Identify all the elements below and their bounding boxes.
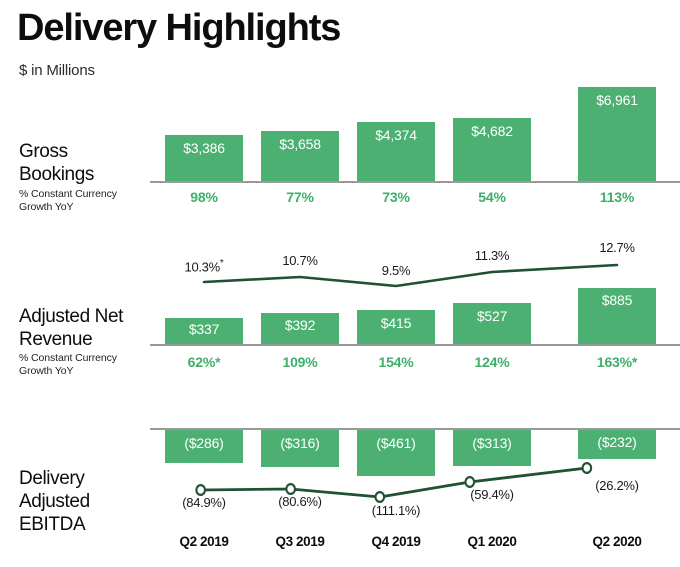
row-sublabel-gross-bookings-line1: % Constant Currency [19,188,117,201]
bar-ebitda-q4-2019[interactable]: ($461) [357,430,435,476]
x-tick-q1-2020: Q1 2020 [453,534,531,549]
ebitda-margin-label-q3-2019: (80.6%) [260,494,340,509]
bar-ebitda-q3-2019[interactable]: ($316) [261,430,339,467]
delivery-highlights-slide: Delivery Highlights $ in Millions Gross … [0,0,680,567]
row-label-gross-bookings: Gross Bookings [19,140,94,186]
bar-ebitda-q2-2020[interactable]: ($232) [578,430,656,459]
ebitda-margin-marker-q2-2020 [583,463,592,473]
x-tick-q3-2019: Q3 2019 [261,534,339,549]
row-label-gross-bookings-line1: Gross [19,140,94,163]
row-sublabel-gross-bookings-line2: Growth YoY [19,201,117,214]
ebitda-margin-marker-q4-2019 [376,492,385,502]
ebitda-margin-marker-q2-2019 [196,485,205,495]
ebitda-margin-label-q1-2020: (59.4%) [452,487,532,502]
x-tick-q4-2019: Q4 2019 [357,534,435,549]
row-label-adjusted-net-revenue: Adjusted Net Revenue [19,305,123,351]
row-label-delivery-adjusted-ebitda: Delivery Adjusted EBITDA [19,467,90,536]
bar-value-label: ($461) [357,435,435,451]
row-label-adjusted-net-revenue-line2: Revenue [19,328,123,351]
ebitda-margin-label-q4-2019: (111.1%) [356,503,436,518]
bar-value-label: ($316) [261,435,339,451]
row-label-delivery-adjusted-ebitda-line1: Delivery [19,467,90,490]
row-label-gross-bookings-line2: Bookings [19,163,94,186]
row-label-delivery-adjusted-ebitda-line2: Adjusted [19,490,90,513]
row-label-adjusted-net-revenue-line1: Adjusted Net [19,305,123,328]
x-tick-q2-2019: Q2 2019 [165,534,243,549]
x-tick-q2-2020: Q2 2020 [578,534,656,549]
bar-value-label: ($286) [165,435,243,451]
row-sublabel-gross-bookings: % Constant Currency Growth YoY [19,188,117,213]
row-sublabel-adjusted-net-revenue-line2: Growth YoY [19,365,117,378]
chart-delivery-adjusted-ebitda: ($286) ($316) ($461) ($313) ($232) [150,0,680,567]
row-label-delivery-adjusted-ebitda-line3: EBITDA [19,513,90,536]
bar-ebitda-q2-2019[interactable]: ($286) [165,430,243,463]
row-sublabel-adjusted-net-revenue-line1: % Constant Currency [19,352,117,365]
ebitda-margin-marker-q1-2020 [465,477,474,487]
bar-value-label: ($232) [578,434,656,450]
x-axis: Q2 2019 Q3 2019 Q4 2019 Q1 2020 Q2 2020 [150,534,680,554]
page-subtitle: $ in Millions [19,62,95,79]
bar-ebitda-q1-2020[interactable]: ($313) [453,430,531,466]
ebitda-margin-label-q2-2020: (26.2%) [577,478,657,493]
bar-value-label: ($313) [453,435,531,451]
row-sublabel-adjusted-net-revenue: % Constant Currency Growth YoY [19,352,117,377]
ebitda-margin-label-q2-2019: (84.9%) [164,495,244,510]
ebitda-margin-marker-q3-2019 [286,484,295,494]
